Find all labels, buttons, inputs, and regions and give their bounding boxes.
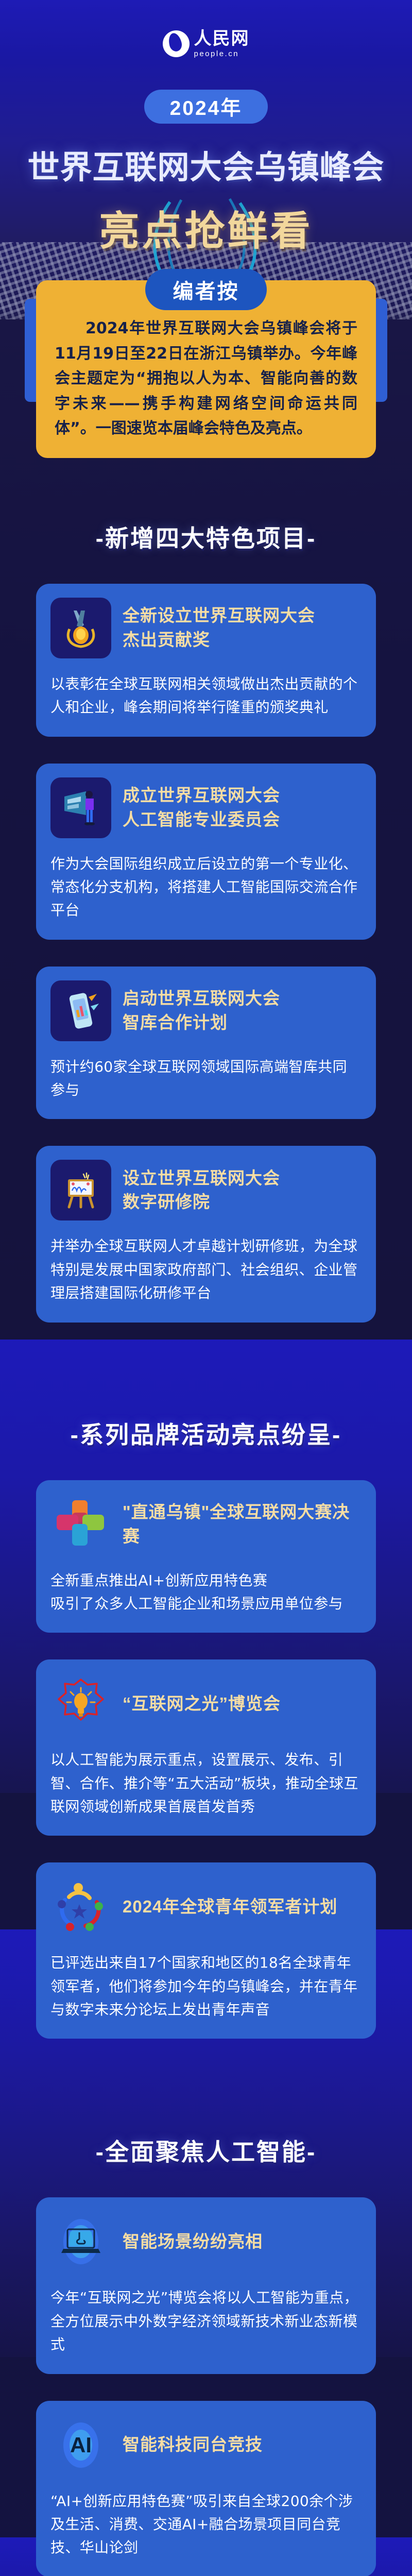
feature-card-4-body: 并举办全球互联网人才卓越计划研修班，为全球特别是发展中国家政府部门、社会组织、企…	[50, 1234, 362, 1304]
editor-note-card: 编者按 2024年世界互联网大会乌镇峰会将于11月19日至22日在浙江乌镇举办。…	[36, 280, 376, 458]
feature-card-1-title: 全新设立世界互联网大会杰出贡献奖	[123, 604, 315, 652]
logo-name-cn: 人民网	[194, 30, 250, 47]
feature-card-2-title: 成立世界互联网大会人工智能专业委员会	[123, 784, 280, 832]
ai-card-2-title: 智能科技同台竞技	[123, 2433, 263, 2457]
feature-card-3[interactable]: 启动世界互联网大会智库合作计划 预计约60家全球互联网领域国际高端智库共同参与	[36, 967, 376, 1120]
infographic-page: 人民网 people.cn 2024年 世界互联网大会乌镇峰会 亮点抢鲜看 编者…	[0, 0, 412, 2576]
feature-card-2-body: 作为大会国际组织成立后设立的第一个专业化、常态化分支机构，将搭建人工智能国际交流…	[50, 852, 362, 922]
brand-card-2-body: 以人工智能为展示重点，设置展示、发布、引智、合作、推介等“五大活动”板块，推动全…	[50, 1748, 362, 1818]
color-squares-icon	[50, 1494, 111, 1555]
brand-card-1-body: 全新重点推出AI+创新应用特色赛 吸引了众多人工智能企业和场景应用单位参与	[50, 1569, 362, 1616]
editor-note-block: 编者按 2024年世界互联网大会乌镇峰会将于11月19日至22日在浙江乌镇举办。…	[36, 280, 376, 458]
page-title: 世界互联网大会乌镇峰会	[0, 141, 412, 188]
feature-card-2[interactable]: 成立世界互联网大会人工智能专业委员会 作为大会国际组织成立后设立的第一个专业化、…	[36, 764, 376, 940]
ai-glow-icon: AI	[50, 2415, 111, 2476]
brand-card-3-title: 2024年全球青年领军者计划	[123, 1895, 337, 1919]
svg-text:AI: AI	[70, 2433, 92, 2457]
brand-card-3-body: 已评选出来自17个国家和地区的18名全球青年领军者，他们将参加今年的乌镇峰会，并…	[50, 1951, 362, 2021]
medal-icon	[50, 598, 111, 658]
ai-card-1-title: 智能场景纷纷亮相	[123, 2230, 263, 2254]
logo-name-en: people.cn	[194, 50, 250, 58]
feature-card-4-title: 设立世界互联网大会数字研修院	[123, 1166, 280, 1215]
ai-card-2-body: “AI+创新应用特色赛”吸引来自全球200余个涉及生活、消费、交通AI+融合场景…	[50, 2489, 362, 2560]
mobile-data-icon	[50, 980, 111, 1041]
section-heading-3: -全面聚焦人工智能-	[0, 2065, 412, 2167]
feature-card-3-title: 启动世界互联网大会智库合作计划	[123, 987, 280, 1035]
editor-note-badge: 编者按	[145, 269, 267, 310]
year-badge: 2024年	[144, 90, 268, 124]
feature-card-3-body: 预计约60家全球互联网领域国际高端智库共同参与	[50, 1055, 362, 1102]
easel-chart-icon	[50, 1160, 111, 1221]
feature-card-4[interactable]: 设立世界互联网大会数字研修院 并举办全球互联网人才卓越计划研修班，为全球特别是发…	[36, 1146, 376, 1322]
presenter-screen-icon	[50, 777, 111, 838]
brand-card-1-title: "直通乌镇"全球互联网大赛决赛	[123, 1500, 362, 1549]
lightbulb-icon	[50, 1673, 111, 1734]
youth-leaders-icon	[50, 1876, 111, 1937]
people-cn-logo-icon	[163, 30, 190, 57]
feature-card-1[interactable]: 全新设立世界互联网大会杰出贡献奖 以表彰在全球互联网相关领域做出杰出贡献的个人和…	[36, 584, 376, 737]
page-subtitle: 亮点抢鲜看	[0, 199, 412, 257]
brand-card-2-title: “互联网之光”博览会	[123, 1692, 281, 1716]
subtitle-block: 亮点抢鲜看	[0, 199, 412, 276]
brand-card-2[interactable]: “互联网之光”博览会 以人工智能为展示重点，设置展示、发布、引智、合作、推介等“…	[36, 1659, 376, 1836]
section-heading-1: -新增四大特色项目-	[0, 520, 412, 554]
ai-card-1-body: 今年“互联网之光”博览会将以人工智能为重点，全方位展示中外数字经济领域新技术新业…	[50, 2286, 362, 2356]
editor-note-text: 2024年世界互联网大会乌镇峰会将于11月19日至22日在浙江乌镇举办。今年峰会…	[55, 316, 357, 442]
ai-card-1[interactable]: 智能场景纷纷亮相 今年“互联网之光”博览会将以人工智能为重点，全方位展示中外数字…	[36, 2197, 376, 2374]
laptop-touch-icon	[50, 2211, 111, 2272]
site-logo[interactable]: 人民网 people.cn	[0, 0, 412, 58]
brand-card-1[interactable]: "直通乌镇"全球互联网大赛决赛 全新重点推出AI+创新应用特色赛 吸引了众多人工…	[36, 1480, 376, 1633]
section-heading-2: -系列品牌活动亮点纷呈-	[0, 1349, 412, 1450]
feature-card-1-body: 以表彰在全球互联网相关领域做出杰出贡献的个人和企业，峰会期间将举行隆重的颁奖典礼	[50, 672, 362, 719]
ai-card-2[interactable]: AI 智能科技同台竞技 “AI+创新应用特色赛”吸引来自全球200余个涉及生活、…	[36, 2401, 376, 2576]
brand-card-3[interactable]: 2024年全球青年领军者计划 已评选出来自17个国家和地区的18名全球青年领军者…	[36, 1862, 376, 2039]
